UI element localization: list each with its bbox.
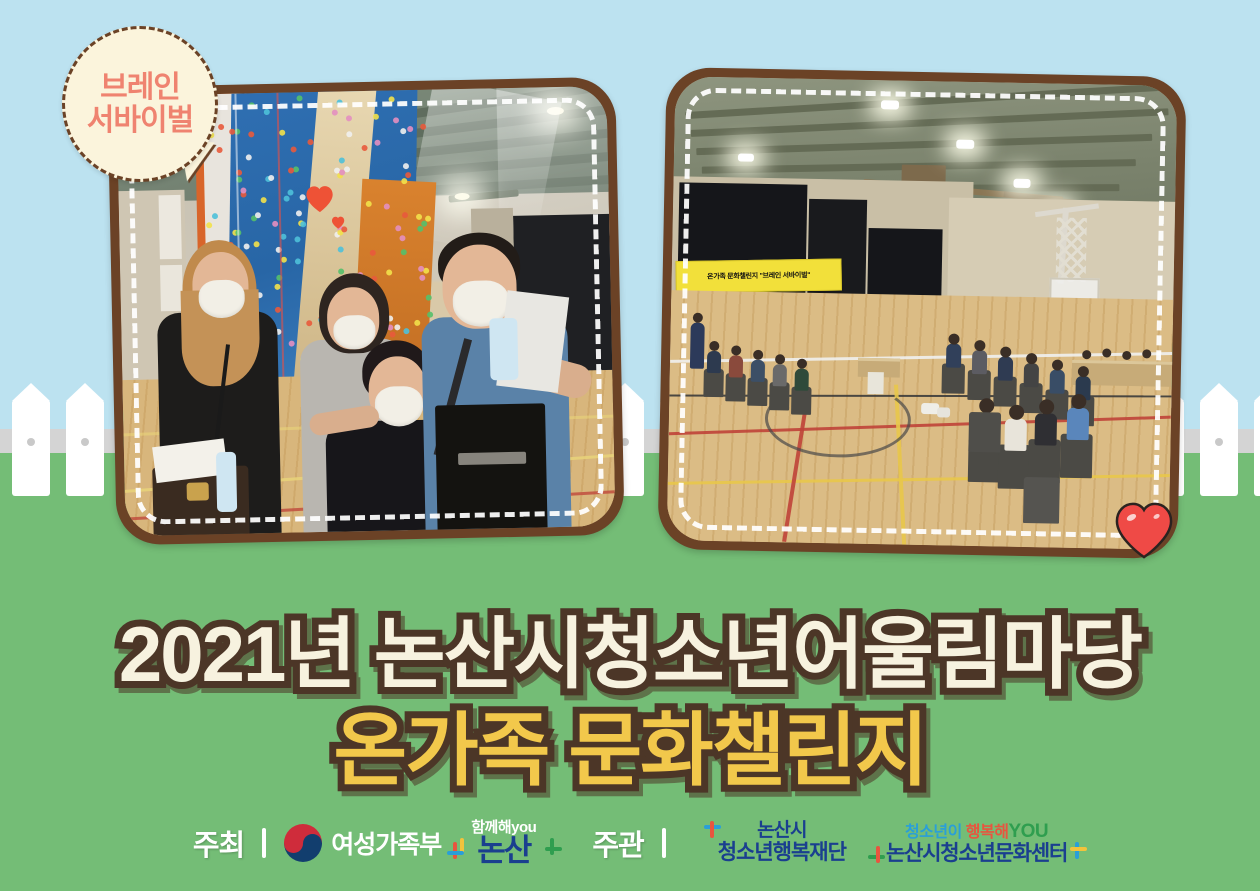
heart-decoration-large — [304, 184, 335, 215]
audience-person — [773, 364, 787, 386]
wall-notice — [160, 265, 183, 311]
climbing-hold — [296, 210, 302, 216]
fence-picket — [12, 400, 50, 496]
climbing-hold — [389, 96, 395, 102]
climbing-hold — [362, 145, 368, 151]
host-label: 주최 — [193, 822, 244, 864]
climbing-hold — [264, 109, 270, 115]
climbing-hold — [419, 275, 425, 281]
heart-sticker-icon — [1113, 501, 1175, 559]
audience-chair — [791, 387, 812, 415]
gymnasium-event-photo: 온가족 문화챌린지 "브레인 서바이벌" — [657, 67, 1186, 559]
ceiling-light — [956, 140, 974, 149]
wall-notice — [159, 195, 182, 259]
climbing-hold — [307, 139, 313, 145]
credit-divider — [662, 828, 666, 858]
climbing-hold — [249, 102, 255, 108]
climbing-hold — [295, 258, 301, 264]
fence-picket — [1200, 400, 1238, 496]
tripod-stand — [867, 372, 883, 394]
climbing-hold — [418, 266, 424, 272]
audience-chair — [703, 369, 724, 397]
organizer-group: 주관 — [592, 822, 683, 864]
foundation-logo-line-1: 논산시 — [757, 821, 806, 842]
foundation-logo-line-2: 청소년행복재단 — [718, 842, 846, 865]
climbing-hold — [346, 131, 352, 137]
climbing-hold — [268, 175, 274, 181]
climbing-hold — [332, 110, 338, 116]
audience-person — [946, 343, 961, 367]
fence-picket — [1254, 400, 1260, 496]
audience-chair — [769, 382, 790, 410]
climbing-hold — [384, 203, 390, 209]
climbing-hold — [374, 140, 380, 146]
center-logo-wordmark: 논산시청소년문화센터 — [886, 842, 1067, 866]
climbing-hold — [244, 243, 250, 249]
ceiling-light — [881, 100, 899, 109]
audience-person — [729, 355, 743, 377]
climbing-hold — [401, 249, 407, 255]
photo-scene-gym: 온가족 문화챌린지 "브레인 서바이벌" — [667, 76, 1178, 550]
audience-chair — [941, 363, 965, 393]
audience-person — [1067, 408, 1090, 440]
climbing-hold — [337, 99, 343, 105]
climbing-hold — [346, 115, 352, 121]
water-bottle — [489, 318, 518, 381]
climbing-hold — [407, 126, 413, 132]
climbing-hold — [403, 163, 409, 169]
audience-chair — [1060, 434, 1093, 479]
climbing-hold — [399, 235, 405, 241]
climbing-hold — [296, 95, 302, 101]
climbing-hold — [300, 221, 306, 227]
event-banner-text: 온가족 문화챌린지 "브레인 서바이벌" — [707, 270, 810, 282]
nonsan-logo-wordmark: 논산 — [477, 835, 530, 866]
youth-culture-center-logo: 청소년이 행복해YOU 논산시청소년문화센터 — [886, 821, 1067, 866]
title-text-line-2: 온가족 문화챌린지 — [333, 686, 926, 802]
climbing-hold — [394, 324, 400, 330]
audience-person — [1049, 369, 1064, 393]
handbag-clasp — [187, 482, 209, 500]
climbing-hold — [393, 117, 399, 123]
climbing-hold — [366, 201, 372, 207]
ceiling-light — [1013, 179, 1030, 188]
fence-picket — [66, 400, 104, 496]
climbing-hold — [287, 189, 293, 195]
audience-person — [751, 360, 765, 382]
climbing-hold — [403, 328, 409, 334]
gift-bag — [435, 403, 548, 536]
climbing-hold — [400, 128, 406, 134]
climbing-hold — [261, 197, 267, 203]
climbing-hold — [217, 147, 223, 153]
climbing-hold — [389, 331, 395, 337]
climbing-hold — [414, 320, 420, 326]
climbing-hold — [212, 213, 218, 219]
climbing-hold — [426, 295, 432, 301]
brain-survival-badge: 브레인 서바이벌 — [62, 26, 218, 182]
climbing-hold — [420, 124, 426, 130]
audience-person — [1004, 419, 1027, 451]
audience-person — [707, 351, 721, 373]
audience-chair — [967, 370, 991, 400]
korea-government-taeguk-icon — [284, 824, 322, 862]
credit-divider — [262, 828, 266, 858]
heart-decoration-small — [331, 215, 345, 229]
climbing-hold — [421, 221, 427, 227]
climbing-hold — [416, 214, 422, 220]
host-group: 주최 여성가족부 — [193, 822, 441, 864]
event-banner: 온가족 문화챌린지 "브레인 서바이벌" — [675, 259, 841, 294]
ceiling-light — [738, 153, 754, 161]
climbing-hold — [370, 250, 376, 256]
audience-chair — [747, 378, 768, 406]
audience-person — [1024, 363, 1039, 387]
nonsan-city-logo: 함께해you 논산 — [471, 820, 536, 866]
audience-chair — [993, 376, 1017, 406]
climbing-hold — [291, 146, 297, 152]
climbing-hold — [395, 225, 401, 231]
badge-line-2: 서바이벌 — [87, 104, 193, 137]
center-tagline-part-3: YOU — [1008, 821, 1048, 842]
youth-happiness-foundation-logo: 논산시 청소년행복재단 — [718, 821, 846, 864]
climbing-hold — [206, 222, 212, 228]
host-organization-name: 여성가족부 — [331, 825, 441, 861]
climbing-hold — [218, 124, 224, 130]
climbing-hold — [405, 172, 411, 178]
climbing-hold — [338, 268, 344, 274]
climbing-hold — [254, 241, 260, 247]
climbing-hold — [255, 212, 261, 218]
climbing-hold — [289, 341, 295, 347]
center-tagline-part-1: 청소년이 — [905, 824, 966, 841]
foreground-chair — [968, 412, 1001, 453]
organizer-label: 주관 — [592, 822, 643, 864]
gift-bag-logo — [458, 452, 526, 465]
audience-chair — [725, 373, 746, 401]
climbing-hold — [246, 154, 252, 160]
climbing-hold — [401, 178, 407, 184]
audience-person — [972, 350, 987, 374]
audience-person — [998, 356, 1013, 380]
climbing-hold — [240, 187, 246, 193]
climbing-hold — [339, 157, 345, 163]
climbing-hold — [306, 320, 312, 326]
audience-person — [1034, 413, 1057, 445]
floor-item — [937, 407, 950, 417]
poster-canvas: 온가족 문화챌린지 "브레인 서바이벌" 브레인 서바이벌 2021년 논산시청… — [0, 0, 1260, 891]
climbing-hold — [279, 130, 285, 136]
climbing-hold — [248, 131, 254, 137]
climbing-hold — [373, 114, 379, 120]
climbing-hold — [272, 221, 278, 227]
credits-bar: 주최 여성가족부 함께해you 논산 주관 논산시 청소년행복재단 — [0, 795, 1260, 891]
climbing-hold — [338, 246, 344, 252]
audience-person — [794, 369, 808, 391]
poster-title-line-2: 온가족 문화챌린지 — [0, 686, 1260, 802]
climbing-hold — [427, 312, 433, 318]
climbing-hold — [339, 169, 345, 175]
climbing-hold — [288, 167, 294, 173]
climbing-hold — [402, 212, 408, 218]
staff-head — [1122, 351, 1131, 360]
climbing-hold — [284, 196, 290, 202]
climbing-hold — [386, 269, 392, 275]
center-logo-tagline: 청소년이 행복해YOU — [905, 821, 1048, 842]
badge-line-1: 브레인 — [100, 71, 180, 104]
hoop-truss — [1056, 218, 1087, 283]
person-head — [693, 313, 703, 323]
center-tagline-part-2: 행복해 — [966, 824, 1009, 841]
staff-head — [1102, 348, 1111, 357]
foreground-chair — [1023, 477, 1060, 524]
person-standing — [690, 323, 705, 369]
water-bottle — [216, 452, 237, 512]
